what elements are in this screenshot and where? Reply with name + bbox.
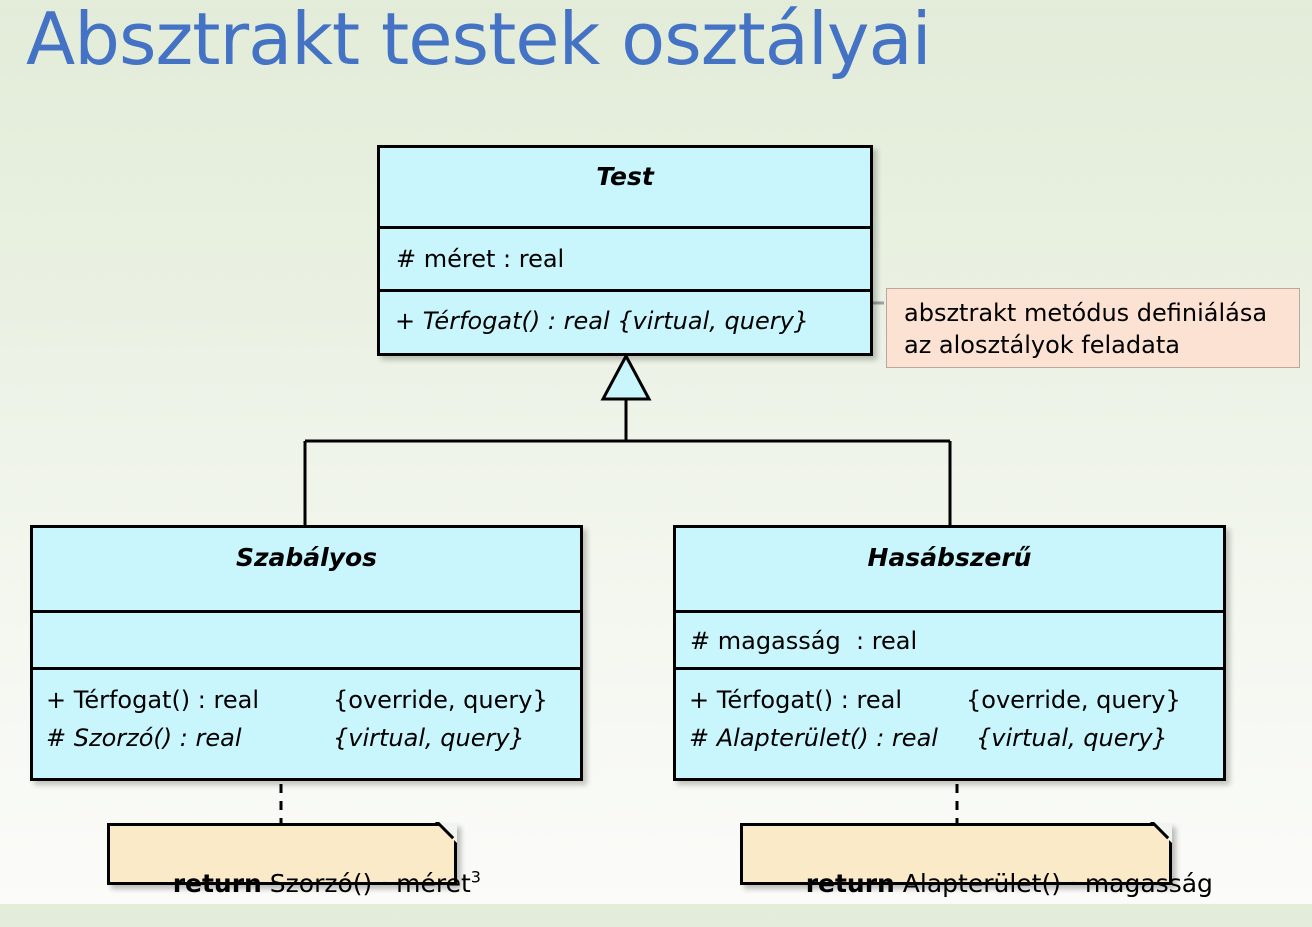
- note-abstract-method: absztrakt metódus definiálása az alosztá…: [886, 288, 1300, 368]
- uml-class-test[interactable]: Test # méret : real + Térfogat() : real …: [377, 145, 873, 356]
- operation-terfogat: + Térfogat() : real {virtual, query}: [395, 307, 809, 335]
- operation-terfogat-properties: {override, query}: [966, 686, 1181, 714]
- page-title: Absztrakt testek osztályai: [26, 0, 931, 84]
- note-line-2: az alosztályok feladata: [904, 330, 1285, 362]
- generalization-triangle: [603, 356, 649, 399]
- class-name-compartment: Szabályos: [33, 528, 580, 610]
- note-fold-corner-line: [1144, 822, 1173, 851]
- attribute-compartment: [33, 610, 580, 667]
- operation-alapterulet-signature: # Alapterület() : real: [689, 724, 938, 752]
- operation-szorzo-signature: # Szorzó() : real: [46, 724, 241, 752]
- note-return-alapterulet: return Alapterület() · magasság: [740, 823, 1172, 885]
- note-left-body: Szorzó() · méret: [262, 869, 471, 898]
- class-name-compartment: Hasábszerű: [676, 528, 1223, 610]
- note-left-superscript: 3: [471, 868, 481, 887]
- class-name-hasabszeru: Hasábszerű: [676, 528, 1223, 572]
- attribute-compartment: # méret : real: [380, 226, 870, 289]
- note-right-text: return Alapterület() · magasság: [758, 840, 1213, 927]
- attribute-magassag: # magasság : real: [690, 627, 917, 655]
- operation-terfogat-signature: + Térfogat() : real: [46, 686, 259, 714]
- class-name-compartment: Test: [380, 148, 870, 226]
- attribute-compartment: # magasság : real: [676, 610, 1223, 667]
- note-left-text: return Szorzó() · méret3: [125, 840, 481, 927]
- operation-szorzo-properties: {virtual, query}: [333, 724, 525, 752]
- slide-canvas: Absztrakt testek osztályai Test # méret …: [0, 0, 1312, 904]
- note-right-keyword: return: [806, 869, 895, 898]
- operation-terfogat-signature: + Térfogat() : real: [689, 686, 902, 714]
- note-return-szorzo: return Szorzó() · méret3: [107, 823, 457, 885]
- uml-class-szabalyos[interactable]: Szabályos + Térfogat() : real {override,…: [30, 525, 583, 781]
- note-fold-corner-line: [429, 822, 458, 851]
- operation-terfogat-properties: {override, query}: [333, 686, 548, 714]
- operation-compartment: + Térfogat() : real {override, query} # …: [676, 667, 1223, 778]
- note-line-1: absztrakt metódus definiálása: [904, 298, 1285, 330]
- uml-class-hasabszeru[interactable]: Hasábszerű # magasság : real + Térfogat(…: [673, 525, 1226, 781]
- note-right-body: Alapterület() · magasság: [895, 869, 1213, 898]
- operation-compartment: + Térfogat() : real {virtual, query}: [380, 289, 870, 353]
- operation-alapterulet-properties: {virtual, query}: [976, 724, 1168, 752]
- operation-compartment: + Térfogat() : real {override, query} # …: [33, 667, 580, 778]
- class-name-test: Test: [380, 148, 870, 191]
- class-name-szabalyos: Szabályos: [33, 528, 580, 572]
- attribute-meret: # méret : real: [396, 245, 564, 273]
- note-left-keyword: return: [173, 869, 262, 898]
